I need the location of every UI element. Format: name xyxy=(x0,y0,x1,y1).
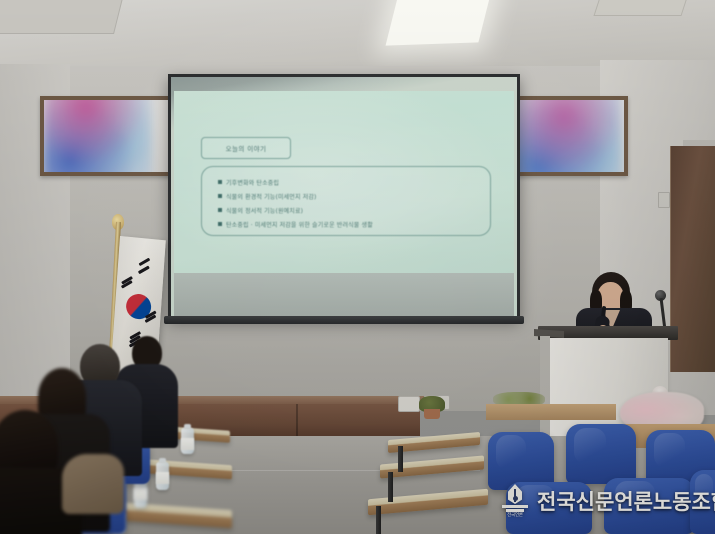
slide-bullet-text: 식물의 환경적 기능(미세먼지 저감) xyxy=(226,192,317,201)
side-table-back xyxy=(486,404,616,420)
pen-nib-hole xyxy=(513,496,518,501)
desk-leg xyxy=(398,446,403,472)
bottle-cap xyxy=(184,424,191,429)
wall-outlet[interactable] xyxy=(398,396,420,412)
slide-bullet-item: 식물의 환경적 기능(미세먼지 저감) xyxy=(202,189,490,203)
bottle-label xyxy=(156,472,169,484)
pen-nib-icon: 전국언론 xyxy=(500,484,530,520)
screen-surface: 오늘의 이야기 기후변화와 탄소중립 식물의 환경적 기능(미세먼지 저감) 식… xyxy=(171,77,517,316)
slide-bullet-box: 기후변화와 탄소중립 식물의 환경적 기능(미세먼지 저감) 식물의 정서적 기… xyxy=(201,166,491,236)
watermark-organization-name: 전국신문언론노동조합 xyxy=(537,492,715,513)
podium-side-panel xyxy=(540,336,550,436)
plant-pot xyxy=(424,409,440,419)
slide-bullet-text: 식물의 정서적 기능(원예치료) xyxy=(226,206,303,215)
bottle-label xyxy=(134,488,147,500)
ceiling-light-panel-dim xyxy=(593,0,690,16)
stage-seam xyxy=(296,404,298,440)
slide-bullet-item: 식물의 정서적 기능(원예치료) xyxy=(202,203,490,217)
slide-bullet-text: 기후변화와 탄소중립 xyxy=(226,178,279,187)
person-coat xyxy=(62,454,124,514)
bottle-cap xyxy=(159,458,166,463)
slide-title-text: 오늘의 이야기 xyxy=(226,143,267,153)
logo-subtext: 전국언론 xyxy=(504,512,526,519)
bottle-label xyxy=(181,438,194,450)
wall-switch[interactable] xyxy=(658,192,670,208)
desk-leg xyxy=(388,472,393,502)
slide-title-box: 오늘의 이야기 xyxy=(201,137,291,159)
slide-bullet-item: 기후변화와 탄소중립 xyxy=(202,175,490,189)
desk-leg xyxy=(376,506,381,534)
watermark: 전국언론 전국신문언론노동조합 xyxy=(500,484,715,520)
ceiling-vent-panel xyxy=(0,0,124,34)
bullet-square-icon xyxy=(218,194,222,198)
bullet-square-icon xyxy=(218,180,222,184)
logo-bar-top xyxy=(502,505,528,508)
screen-unlit-area xyxy=(174,273,514,316)
slide-bullet-item: 탄소중립 · 미세먼지 저감을 위한 슬기로운 반려식물 생활 xyxy=(202,217,490,231)
chair[interactable] xyxy=(566,424,636,484)
slide-bullet-text: 탄소중립 · 미세먼지 저감을 위한 슬기로운 반려식물 생활 xyxy=(226,220,373,229)
projection-screen: 오늘의 이야기 기후변화와 탄소중립 식물의 환경적 기능(미세먼지 저감) 식… xyxy=(168,74,520,319)
lecture-hall-photo: 202 오늘의 이야기 기후변화와 탄소중립 식물의 환경적 기능(미세먼지 저… xyxy=(0,0,715,534)
presentation-slide: 오늘의 이야기 기후변화와 탄소중립 식물의 환경적 기능(미세먼지 저감) 식… xyxy=(174,91,514,275)
bullet-square-icon xyxy=(218,208,222,212)
bullet-square-icon xyxy=(218,222,222,226)
ceiling-light-panel xyxy=(386,0,491,46)
